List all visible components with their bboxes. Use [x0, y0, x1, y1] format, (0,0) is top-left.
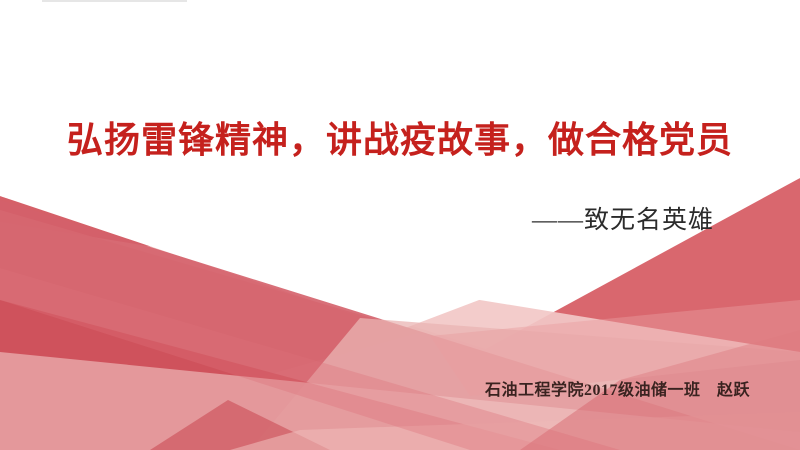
slide-title: 弘扬雷锋精神，讲战疫故事，做合格党员 [0, 118, 800, 163]
slide-byline: 石油工程学院2017级油储一班 赵跃 [0, 376, 800, 400]
top-hairline-rule [42, 0, 187, 2]
presentation-title-slide: 弘扬雷锋精神，讲战疫故事，做合格党员 ——致无名英雄 石油工程学院2017级油储… [0, 0, 800, 450]
slide-subtitle: ——致无名英雄 [0, 200, 800, 236]
